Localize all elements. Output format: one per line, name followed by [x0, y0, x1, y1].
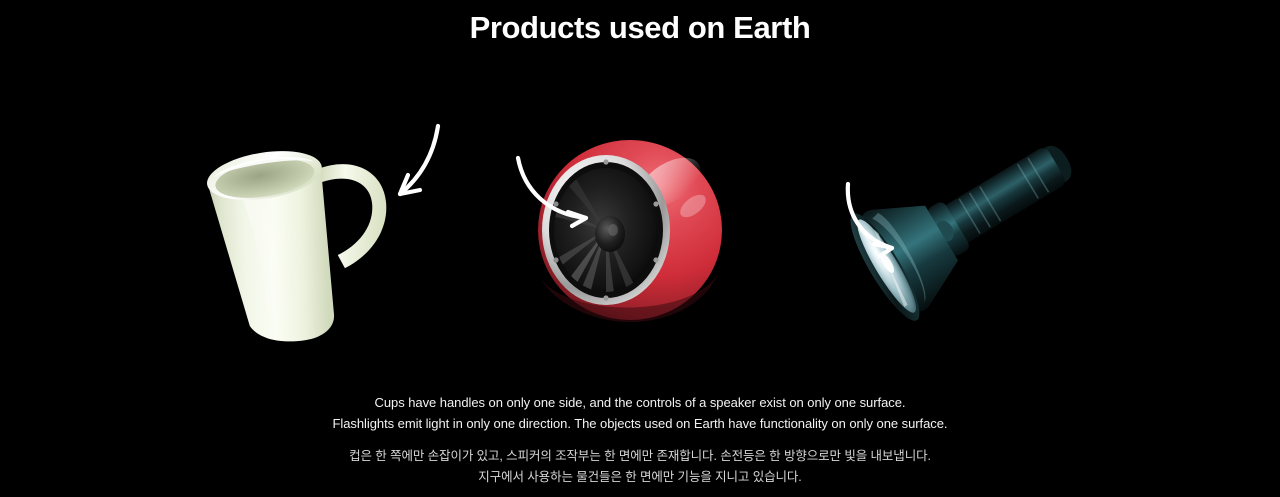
- product-row: [0, 110, 1280, 355]
- curved-arrow-down-right-icon: [510, 152, 605, 232]
- speaker-icon: [510, 110, 775, 355]
- speaker-dust-cap-gloss: [608, 224, 618, 236]
- curved-arrow-down-left-icon: [376, 118, 456, 218]
- caption-korean: 컵은 한 쪽에만 손잡이가 있고, 스피커의 조작부는 한 면에만 존재합니다.…: [0, 446, 1280, 488]
- curved-arrow-down-right-icon: [836, 178, 921, 263]
- slide-root: Products used on Earth: [0, 0, 1280, 497]
- caption-english: Cups have handles on only one side, and …: [0, 392, 1280, 434]
- speaker-screw: [653, 201, 658, 206]
- speaker-screw: [603, 295, 608, 300]
- caption-english-line-1: Cups have handles on only one side, and …: [0, 392, 1280, 413]
- page-title: Products used on Earth: [0, 8, 1280, 48]
- product-mug: [180, 110, 430, 355]
- caption-korean-line-2: 지구에서 사용하는 물건들은 한 면에만 기능을 지니고 있습니다.: [0, 467, 1280, 488]
- speaker-screw: [553, 257, 558, 262]
- speaker-screw: [653, 257, 658, 262]
- caption-english-line-2: Flashlights emit light in only one direc…: [0, 413, 1280, 434]
- caption-block: Cups have handles on only one side, and …: [0, 392, 1280, 488]
- product-speaker: [510, 110, 775, 355]
- product-flashlight: [830, 110, 1120, 355]
- caption-korean-line-1: 컵은 한 쪽에만 손잡이가 있고, 스피커의 조작부는 한 면에만 존재합니다.…: [0, 446, 1280, 467]
